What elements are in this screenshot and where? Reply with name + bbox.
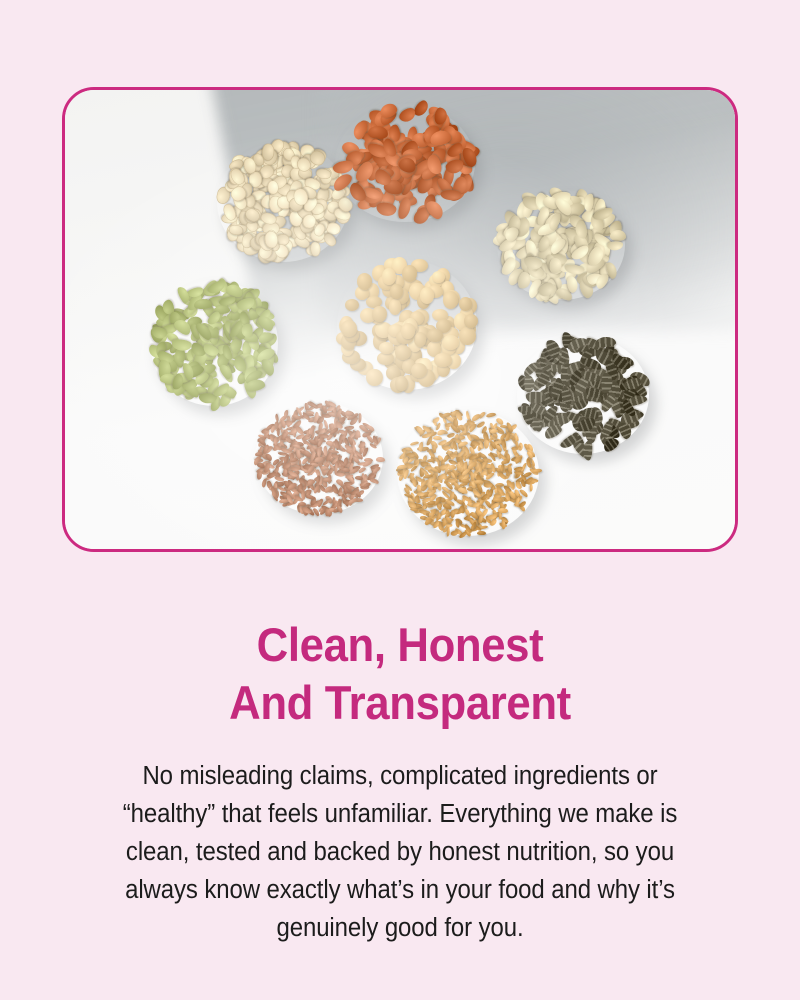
body-paragraph: No misleading claims, complicated ingred… xyxy=(71,757,729,947)
pile-soybeans xyxy=(337,260,477,390)
page-title-line-1: Clean, Honest xyxy=(28,616,772,674)
page-title-line-2: And Transparent xyxy=(28,674,772,732)
body-line-2: “healthy” that feels unfamiliar. Everyth… xyxy=(71,795,729,833)
body-line-5: genuinely good for you. xyxy=(71,909,729,947)
brown-flax-grains xyxy=(255,402,383,514)
pile-brown-flaxseed xyxy=(255,402,383,514)
peanut-kernels xyxy=(335,104,475,222)
copy-block: Clean, Honest And Transparent No mislead… xyxy=(0,616,800,947)
seed-varieties-photo xyxy=(65,90,735,549)
seed-varieties-image-card xyxy=(62,87,738,552)
pepita-kernels xyxy=(150,280,278,406)
pile-pumpkin-seeds-in-shell xyxy=(497,190,625,300)
body-line-4: always know exactly what’s in your food … xyxy=(71,871,729,909)
page-title: Clean, Honest And Transparent xyxy=(28,616,772,732)
pile-golden-flaxseed xyxy=(397,410,539,536)
promo-page: Clean, Honest And Transparent No mislead… xyxy=(0,0,800,1000)
oat-flakes xyxy=(217,142,349,262)
pile-rolled-oats xyxy=(217,142,349,262)
soybean-spheres xyxy=(337,260,477,390)
body-line-3: clean, tested and backed by honest nutri… xyxy=(71,833,729,871)
pile-green-pepitas xyxy=(150,280,278,406)
pile-peanuts xyxy=(335,104,475,222)
body-line-1: No misleading claims, complicated ingred… xyxy=(71,757,729,795)
golden-flax-grains xyxy=(397,410,539,536)
pumpkin-seed-shells xyxy=(497,190,625,300)
